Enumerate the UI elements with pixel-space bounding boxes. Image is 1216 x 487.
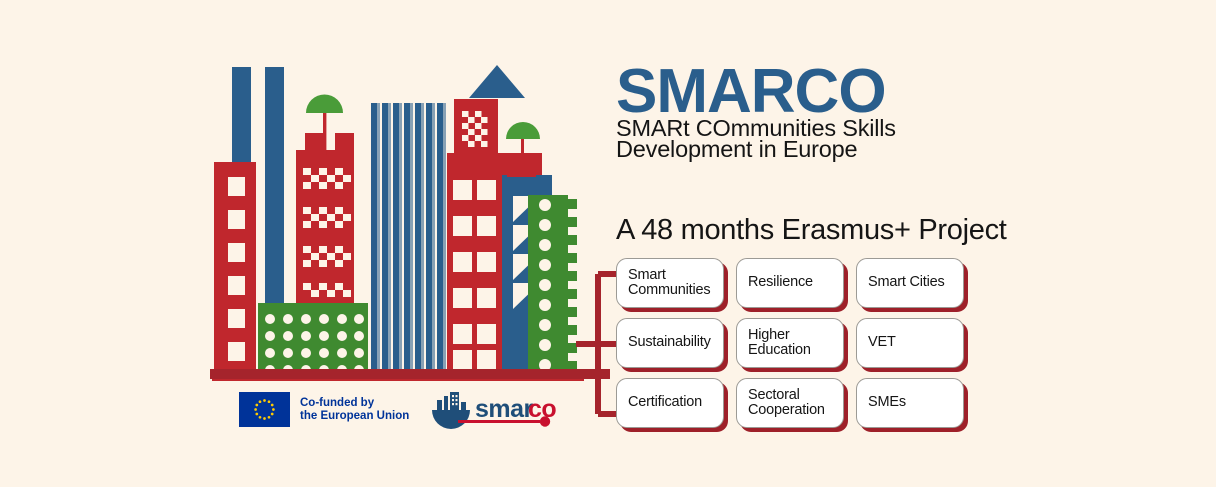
smarco-buildings-icon (437, 392, 466, 410)
tag-label-line1: Sectoral (748, 388, 825, 404)
blue-tower-left-2 (265, 67, 284, 305)
tag-label-line1: Higher (748, 328, 811, 344)
tag-vet[interactable]: VET (856, 318, 964, 368)
grid-gap (724, 378, 736, 428)
tag-label-line2: Education (748, 343, 811, 359)
page-title: SMARCO (616, 62, 886, 122)
grid-gap (844, 258, 856, 308)
smarco-wordmark-blue: smar (475, 395, 534, 423)
grid-gap (844, 318, 856, 368)
striped-blue-skyscraper (370, 103, 446, 378)
tag-certification[interactable]: Certification (616, 378, 724, 428)
brand-subtitle-line2: Development in Europe (616, 139, 896, 160)
eu-cofunding-text: Co-funded by the European Union (300, 397, 409, 423)
smarco-logo: smar co (428, 390, 560, 432)
tag-label-line1: VET (868, 335, 896, 351)
tag-resilience[interactable]: Resilience (736, 258, 844, 308)
tag-sustainability[interactable]: Sustainability (616, 318, 724, 368)
smarco-bowl-icon (432, 410, 470, 429)
tag-label-line1: Sustainability (628, 335, 711, 351)
topic-tag-grid: Smart Communities Resilience Smart Citie… (616, 258, 964, 428)
project-tagline: A 48 months Erasmus+ Project (616, 214, 1007, 247)
smarco-project-banner: SMARCO SMARt COmmunities Skills Developm… (0, 0, 1216, 487)
tag-label-line1: Certification (628, 395, 702, 411)
tag-smes[interactable]: SMEs (856, 378, 964, 428)
tag-sectoral-cooperation[interactable]: Sectoral Cooperation (736, 378, 844, 428)
tag-label-line1: Smart Cities (868, 275, 945, 291)
tag-smart-cities[interactable]: Smart Cities (856, 258, 964, 308)
brand-subtitle: SMARt COmmunities Skills Development in … (616, 118, 896, 160)
eu-text-line1: Co-funded by (300, 397, 409, 410)
green-notched-tower (528, 195, 577, 378)
grid-gap (724, 258, 736, 308)
tag-label-line2: Cooperation (748, 403, 825, 419)
checkered-red-tower (296, 95, 354, 306)
eu-flag-icon (239, 392, 290, 427)
smarco-wordmark-red: co (528, 395, 556, 423)
green-dotted-block (258, 303, 368, 378)
tag-higher-education[interactable]: Higher Education (736, 318, 844, 368)
eu-cofunding-logo: Co-funded by the European Union (239, 392, 409, 427)
grid-gap (724, 318, 736, 368)
city-ground-bar (212, 371, 584, 381)
tag-label-line1: SMEs (868, 395, 906, 411)
tag-label-line1: Resilience (748, 275, 813, 291)
tag-smart-communities[interactable]: Smart Communities (616, 258, 724, 308)
tag-label-line2: Communities (628, 283, 710, 299)
tag-label-line1: Smart (628, 268, 710, 284)
grid-gap (844, 378, 856, 428)
city-skyline-illustration (210, 55, 590, 385)
eu-text-line2: the European Union (300, 410, 409, 423)
